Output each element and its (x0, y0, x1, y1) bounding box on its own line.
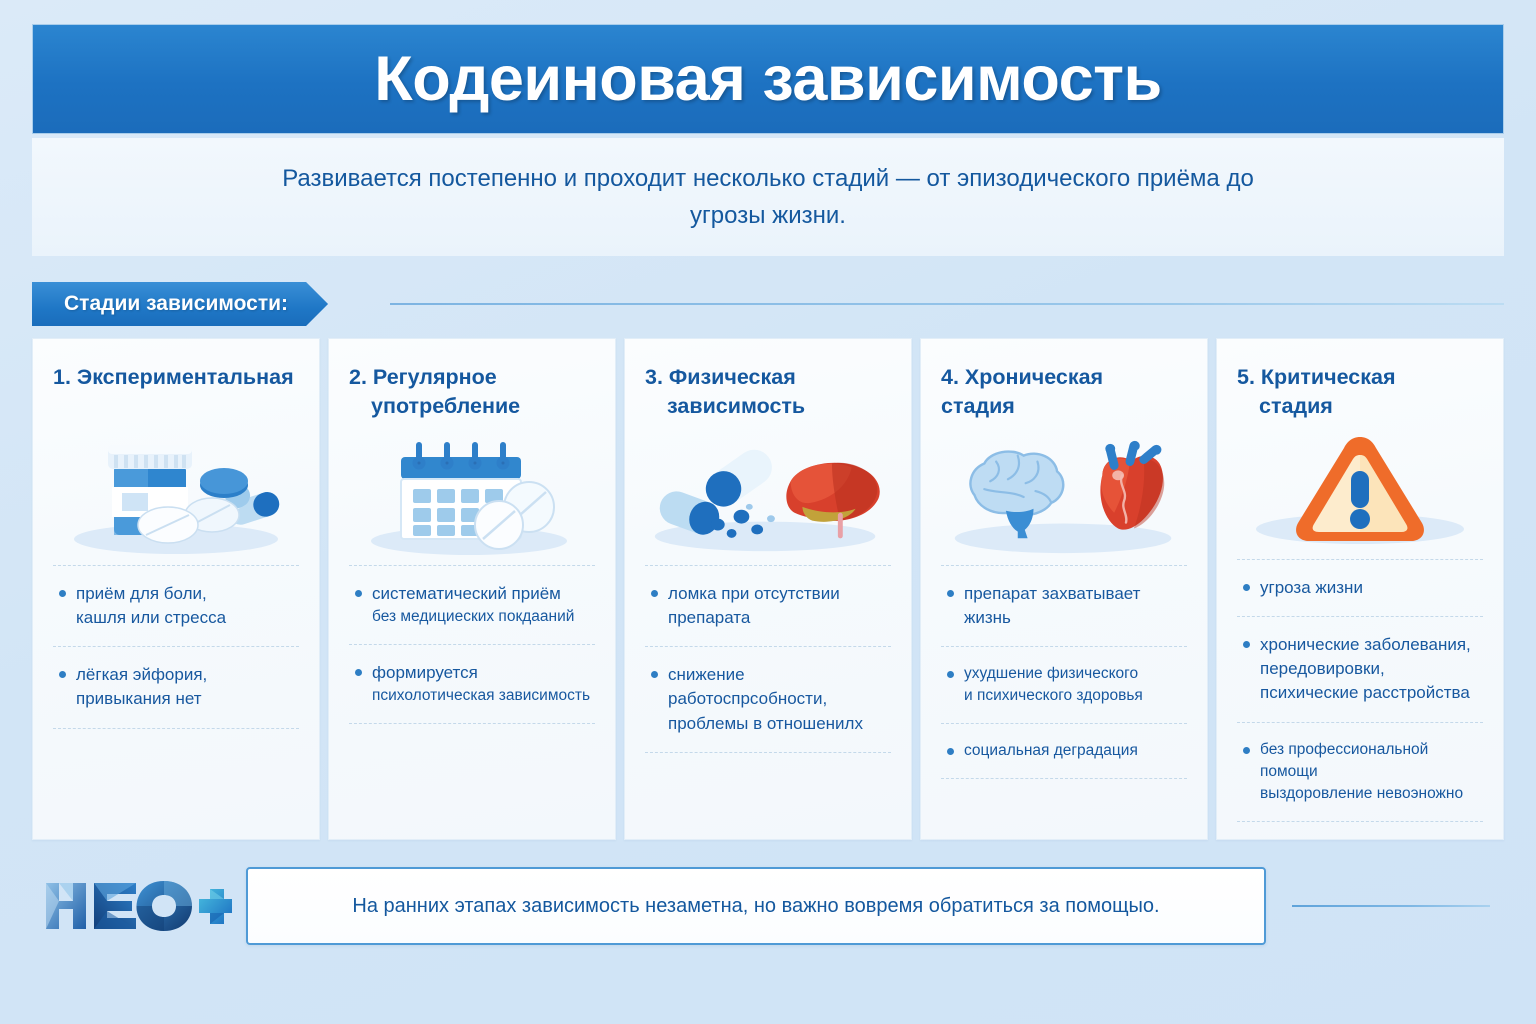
bullet-text: ухудшение физического и психического здо… (964, 663, 1185, 707)
stage-card-3-title: 3. Физическая зависимость (645, 363, 891, 425)
bullet-line-2: препарата (668, 608, 750, 627)
stage-card-5-title: 5. Критическая стадия (1237, 363, 1483, 425)
stage-card-4-bullets: препарат захватывает жизнь ухудшение физ… (941, 565, 1187, 779)
bullet-text: приём для боли, кашля или стресса (76, 582, 297, 630)
subtitle-panel: Развивается постепенно и проходит нескол… (32, 138, 1504, 256)
bullet-dot-icon (651, 671, 658, 678)
stage-card-4-title-line2: стадия (941, 392, 1187, 421)
list-item: ухудшение физического и психического здо… (941, 646, 1187, 723)
stage-card-5-title-line2: стадия (1237, 392, 1483, 421)
stage-card-2-title-line1: 2. Регулярное (349, 365, 497, 389)
bullet-text: без профессиональной помощи выздоровлени… (1260, 739, 1481, 805)
bullet-line-1: снижение (668, 665, 745, 684)
list-item: социальная деградация (941, 723, 1187, 778)
bullet-line-2: и психического здоровья (964, 685, 1185, 707)
bullet-text: препарат захватывает жизнь (964, 582, 1185, 630)
bullet-line-2: психолотическая зависимость (372, 685, 593, 707)
stage-card-2-bullets: систематический приём без медициеских по… (349, 565, 595, 724)
stage-card-5-bullets: угроза жизни хронические заболевания, пе… (1237, 559, 1483, 822)
bullet-line-1: социальная деградация (964, 740, 1185, 762)
list-item: без профессиональной помощи выздоровлени… (1237, 722, 1483, 821)
bullet-line-1: хронические заболевания, (1260, 635, 1471, 654)
infographic-page: Кодеиновая зависимость Развивается посте… (0, 0, 1536, 1024)
page-title: Кодеиновая зависимость (374, 43, 1161, 115)
bullet-line-1: угроза жизни (1260, 578, 1363, 597)
stage-card-1: 1. Экспериментальная (32, 338, 320, 840)
stages-ribbon-row: Стадии зависимости: (32, 282, 1504, 326)
brain-heart-icon (941, 429, 1187, 557)
calendar-pills-icon (349, 429, 595, 557)
capsule-liver-icon (645, 429, 891, 557)
stage-card-4-title-line1: 4. Хроническая (941, 365, 1103, 389)
subtitle-text: Развивается постепенно и проходит нескол… (243, 160, 1293, 234)
list-item: приём для боли, кашля или стресса (53, 565, 299, 646)
bullet-dot-icon (1243, 641, 1250, 648)
bullet-dot-icon (1243, 584, 1250, 591)
bullet-line-1: лёгкая эйфория, (76, 665, 207, 684)
pill-bottle-icon (53, 429, 299, 557)
stages-ribbon: Стадии зависимости: (32, 282, 328, 326)
bullet-text: систематический приём без медициеских по… (372, 582, 593, 628)
bullet-dot-icon (651, 590, 658, 597)
list-item: снижение работоспрсобности, проблемы в о… (645, 646, 891, 751)
bullet-line-2: выздоровление невоэножно (1260, 783, 1481, 805)
bullet-dot-icon (355, 669, 362, 676)
stage-card-2-title-line2: употребление (349, 392, 595, 421)
stage-card-4-title: 4. Хроническая стадия (941, 363, 1187, 425)
bullet-text: угроза жизни (1260, 576, 1481, 600)
list-item: препарат захватывает жизнь (941, 565, 1187, 646)
list-item: угроза жизни (1237, 559, 1483, 616)
stage-card-1-title-line1: 1. Экспериментальная (53, 365, 294, 389)
stage-card-3-bullets: ломка при отсутствии препарата снижение … (645, 565, 891, 753)
bullet-line-2: передовировки, психические расстройства (1260, 659, 1470, 702)
bullet-dot-icon (59, 590, 66, 597)
bullet-dot-icon (947, 748, 954, 755)
list-item: формируется психолотическая зависимость (349, 644, 595, 723)
bullet-line-1: формируется (372, 663, 478, 682)
bullet-dot-icon (59, 671, 66, 678)
bullet-text: ломка при отсутствии препарата (668, 582, 889, 630)
list-item: ломка при отсутствии препарата (645, 565, 891, 646)
bullet-line-1: ломка при отсутствии (668, 584, 840, 603)
stage-card-1-bullets: приём для боли, кашля или стресса лёгкая… (53, 565, 299, 729)
bullet-line-1: систематический приём (372, 584, 561, 603)
bullet-dot-icon (947, 671, 954, 678)
stage-card-5: 5. Критическая стадия угроза жизни (1216, 338, 1504, 840)
bullet-line-2: кашля или стресса (76, 608, 226, 627)
footer-divider-line (1292, 905, 1490, 907)
footer: На ранних этапах зависимость незаметна, … (32, 858, 1504, 954)
neo-plus-logo-icon (32, 877, 242, 935)
warning-triangle-icon (1237, 429, 1483, 551)
ribbon-divider-line (390, 303, 1504, 305)
stage-card-2-title: 2. Регулярное употребление (349, 363, 595, 425)
footnote-box: На ранних этапах зависимость незаметна, … (246, 867, 1266, 945)
stages-card-row: 1. Экспериментальная (32, 338, 1504, 840)
bullet-line-1: препарат захватывает (964, 584, 1140, 603)
bullet-line-1: приём для боли, (76, 584, 207, 603)
stage-card-2: 2. Регулярное употребление (328, 338, 616, 840)
bullet-line-2: работоспрсобности, проблемы в отношенилх (668, 689, 863, 732)
bullet-dot-icon (355, 590, 362, 597)
bullet-line-2: привыкания нет (76, 689, 202, 708)
bullet-text: лёгкая эйфория, привыкания нет (76, 663, 297, 711)
bullet-dot-icon (947, 590, 954, 597)
stage-card-3-title-line2: зависимость (645, 392, 891, 421)
bullet-dot-icon (1243, 747, 1250, 754)
stage-card-3-title-line1: 3. Физическая (645, 365, 796, 389)
list-item: лёгкая эйфория, привыкания нет (53, 646, 299, 727)
list-item: систематический приём без медициеских по… (349, 565, 595, 644)
footnote-text: На ранних этапах зависимость незаметна, … (328, 895, 1183, 918)
header-band: Кодеиновая зависимость (32, 24, 1504, 134)
stages-ribbon-label: Стадии зависимости: (64, 292, 288, 316)
bullet-line-1: без профессиональной помощи (1260, 739, 1481, 783)
bullet-line-2: без медициеских покдааний (372, 606, 593, 628)
bullet-text: социальная деградация (964, 740, 1185, 762)
stage-card-4: 4. Хроническая стадия (920, 338, 1208, 840)
bullet-line-1: ухудшение физического (964, 663, 1185, 685)
stage-card-1-title: 1. Экспериментальная (53, 363, 299, 425)
stage-card-5-title-line1: 5. Критическая (1237, 365, 1396, 389)
bullet-text: формируется психолотическая зависимость (372, 661, 593, 707)
bullet-text: хронические заболевания, передовировки, … (1260, 633, 1481, 705)
bullet-text: снижение работоспрсобности, проблемы в о… (668, 663, 889, 735)
bullet-line-2: жизнь (964, 608, 1011, 627)
stage-card-3: 3. Физическая зависимость (624, 338, 912, 840)
list-item: хронические заболевания, передовировки, … (1237, 616, 1483, 721)
